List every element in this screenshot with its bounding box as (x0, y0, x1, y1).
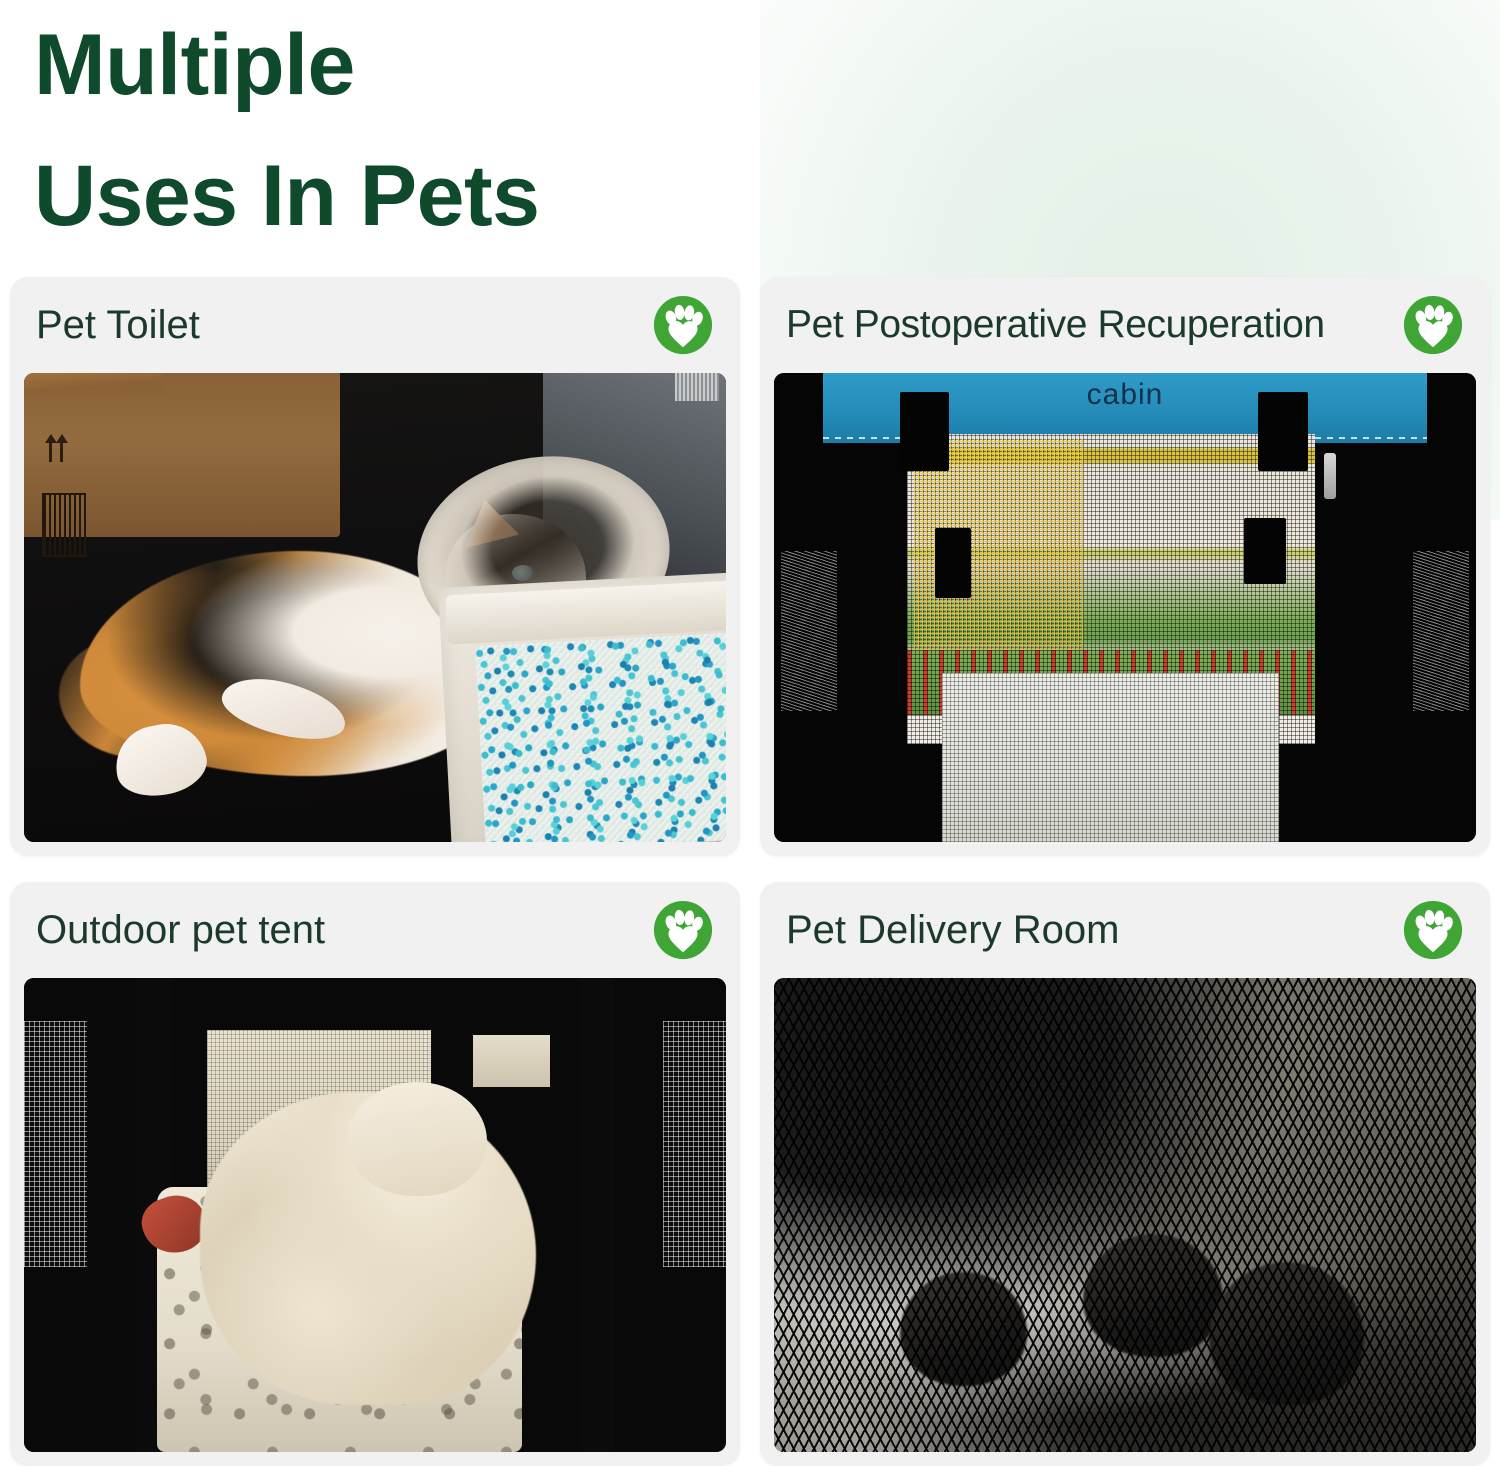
barcode-icon (42, 493, 86, 557)
use-case-card-pet-toilet[interactable]: Pet Toilet (10, 277, 740, 856)
card-title: Outdoor pet tent (36, 908, 325, 952)
fastener-tab (935, 528, 970, 598)
cabin-label: cabin (774, 378, 1476, 412)
photo-pet-toilet (24, 373, 726, 842)
card-header: Outdoor pet tent (10, 882, 740, 978)
mesh-window (24, 1021, 87, 1267)
card-photo (774, 978, 1476, 1452)
this-side-up-arrows-icon (46, 434, 68, 464)
use-case-card-pet-delivery-room[interactable]: Pet Delivery Room (760, 882, 1490, 1466)
card-title: Pet Delivery Room (786, 908, 1119, 952)
white-sheet (942, 673, 1279, 842)
card-photo (24, 978, 726, 1452)
box-contents (24, 373, 162, 392)
zipper-pull-icon (1324, 453, 1336, 499)
card-header: Pet Toilet (10, 277, 740, 373)
use-case-card-outdoor-pet-tent[interactable]: Outdoor pet tent (10, 882, 740, 1466)
page-title-line-2: Uses In Pets (34, 131, 814, 262)
card-title: Pet Postoperative Recuperation (786, 304, 1325, 347)
tent-post (579, 978, 614, 1452)
diamond-mesh-overlay (774, 978, 1476, 1452)
card-title: Pet Toilet (36, 303, 200, 347)
page-title: Multiple Uses In Pets (34, 0, 814, 261)
infographic-page: Multiple Uses In Pets Pet Toilet (0, 0, 1500, 1466)
paw-icon (652, 899, 714, 961)
side-fabric (781, 551, 837, 710)
mesh-window (663, 1021, 726, 1267)
dog-head (347, 1082, 487, 1196)
fastener-tab (1258, 392, 1307, 472)
fastener-tab (1244, 518, 1286, 584)
litter-box (438, 571, 726, 842)
card-header: Pet Postoperative Recuperation (760, 277, 1490, 373)
photo-pet-postoperative-recuperation: cabin (774, 373, 1476, 842)
photo-outdoor-pet-tent (24, 978, 726, 1452)
tent-side-flap (473, 1035, 550, 1087)
side-fabric (1413, 551, 1469, 710)
paw-icon (652, 294, 714, 356)
use-case-grid: Pet Toilet (10, 277, 1490, 1466)
card-photo: cabin (774, 373, 1476, 842)
use-case-card-pet-postoperative-recuperation[interactable]: Pet Postoperative Recuperation cabin (760, 277, 1490, 856)
fastener-tab (900, 392, 949, 472)
page-title-line-1: Multiple (34, 0, 814, 131)
crystal-litter (475, 630, 726, 842)
paw-icon (1402, 899, 1464, 961)
photo-pet-delivery-room (774, 978, 1476, 1452)
paw-icon (1402, 294, 1464, 356)
card-photo (24, 373, 726, 842)
card-header: Pet Delivery Room (760, 882, 1490, 978)
